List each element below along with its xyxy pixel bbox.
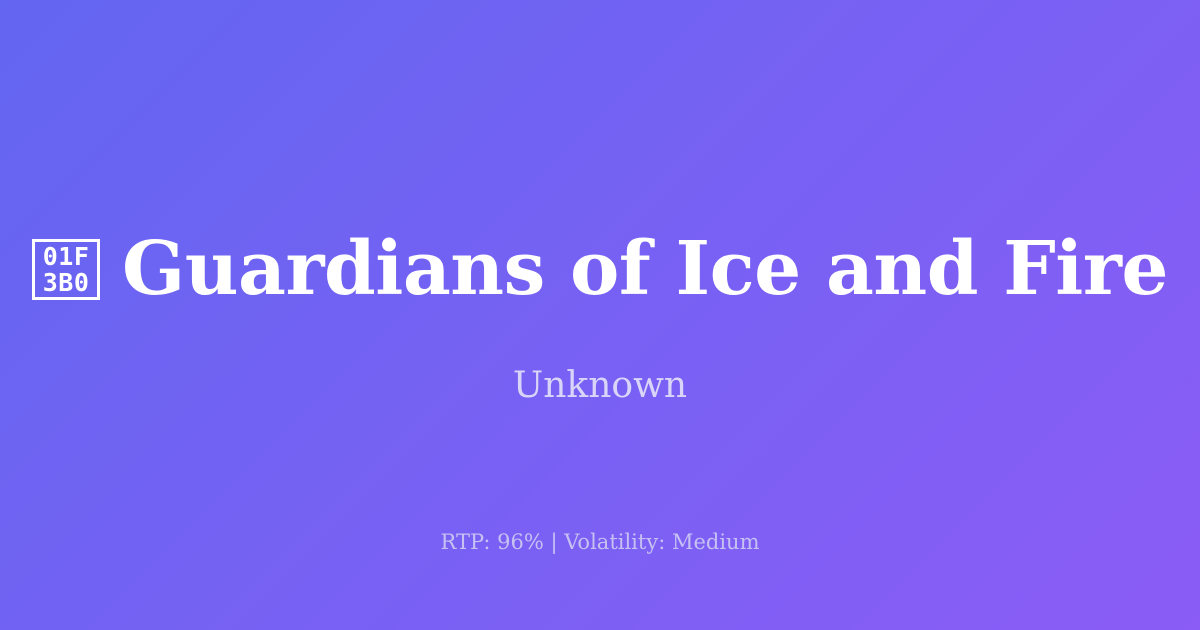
tofu-codepoint-bottom: 3B0 xyxy=(43,270,90,296)
slot-machine-emoji-icon: 01F 3B0 xyxy=(32,239,100,300)
game-stats-line: RTP: 96% | Volatility: Medium xyxy=(0,529,1200,555)
page-subtitle: Unknown xyxy=(0,364,1200,407)
og-preview-card: 01F 3B0 Guardians of Ice and Fire Unknow… xyxy=(0,0,1200,630)
title-row: 01F 3B0 Guardians of Ice and Fire xyxy=(0,232,1200,307)
page-title: Guardians of Ice and Fire xyxy=(122,232,1168,307)
tofu-codepoint-top: 01F xyxy=(43,244,90,270)
